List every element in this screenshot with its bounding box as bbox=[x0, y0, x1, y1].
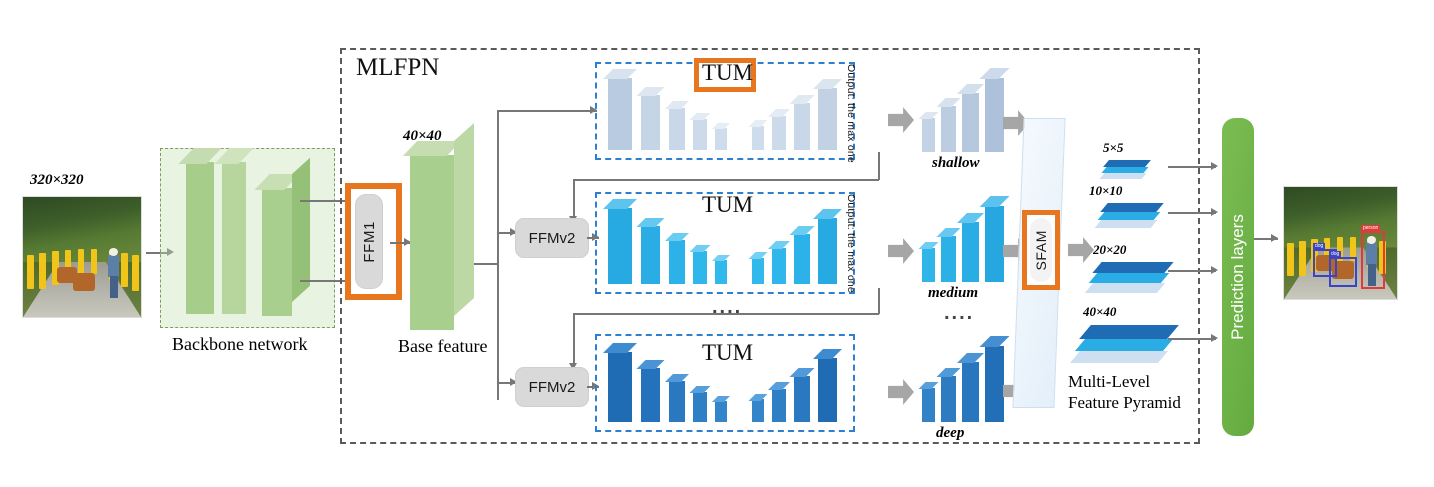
line-tum2-down-to-ffmv2 bbox=[573, 313, 575, 365]
pyr-layer-dark bbox=[1103, 160, 1151, 167]
pyr-layer-light bbox=[1099, 173, 1146, 179]
sfam-label: SFAM bbox=[1033, 230, 1049, 271]
sfam-module[interactable]: SFAM bbox=[1030, 218, 1052, 282]
medium-slab bbox=[962, 222, 979, 282]
shallow-slab bbox=[922, 118, 935, 152]
detection-label-dog: dog bbox=[1313, 243, 1325, 250]
tum-1-slab bbox=[693, 119, 707, 150]
output-photo: person dog dog bbox=[1283, 186, 1398, 300]
tum-2-slab bbox=[669, 240, 685, 284]
deep-slab bbox=[941, 376, 956, 422]
photo-post bbox=[78, 249, 84, 276]
arrowhead bbox=[1211, 162, 1218, 170]
medium-label: medium bbox=[928, 285, 978, 302]
deep-label: deep bbox=[936, 425, 964, 442]
base-feature-block-right bbox=[454, 123, 474, 316]
tum-3-slab bbox=[669, 381, 685, 422]
line-tum1-down-to-ffmv2 bbox=[573, 179, 575, 218]
ffmv2-module-2[interactable]: FFMv2 bbox=[515, 367, 589, 407]
ffmv2-label: FFMv2 bbox=[529, 379, 576, 396]
tum-1-slab bbox=[641, 95, 660, 150]
pyramid-caption-line1: Multi-Level bbox=[1068, 372, 1150, 392]
arrowhead bbox=[1271, 234, 1278, 242]
arrow-pyramid-to-pred-1 bbox=[1168, 166, 1216, 168]
tum-3-slab bbox=[608, 352, 632, 422]
photo-person-head bbox=[109, 248, 118, 256]
shallow-slab bbox=[985, 78, 1004, 152]
arrowhead bbox=[1211, 208, 1218, 216]
backbone-slab-2 bbox=[222, 162, 246, 314]
photo-dog bbox=[73, 273, 95, 291]
detection-label-person: person bbox=[1361, 225, 1380, 232]
tum-label-1: TUM bbox=[702, 60, 753, 86]
line-to-tum1 bbox=[497, 110, 597, 112]
tum-1-slab bbox=[752, 126, 764, 150]
ellipsis-between-tums: .... bbox=[712, 296, 742, 319]
photo-post bbox=[132, 255, 139, 291]
tum-3-slab bbox=[772, 389, 786, 422]
tum-2-slab bbox=[608, 208, 632, 284]
pyr-layer-light bbox=[1070, 351, 1168, 363]
tum-1-slab bbox=[818, 88, 837, 150]
pyramid-caption-line2: Feature Pyramid bbox=[1068, 393, 1181, 413]
tum-2-slab bbox=[641, 226, 660, 284]
tum-3-slab bbox=[641, 368, 660, 422]
prediction-layers-label: Prediction layers bbox=[1228, 214, 1248, 340]
medium-slab bbox=[941, 236, 956, 282]
tum-3-slab bbox=[794, 376, 810, 422]
tum-label-2: TUM bbox=[702, 192, 753, 218]
arrowhead bbox=[1211, 334, 1218, 342]
photo-post bbox=[1299, 241, 1306, 276]
pyr-layer-mid bbox=[1098, 212, 1161, 220]
medium-slab bbox=[922, 248, 935, 282]
ffmv2-label: FFMv2 bbox=[529, 230, 576, 247]
tum-label-3: TUM bbox=[702, 340, 753, 366]
line-base-out bbox=[474, 263, 498, 265]
photo-post bbox=[27, 255, 34, 289]
input-photo bbox=[22, 196, 142, 318]
prediction-layers[interactable]: Prediction layers bbox=[1222, 118, 1254, 436]
pyr-layer-dark bbox=[1079, 325, 1179, 339]
tum-1-output-caption: Output: the max one bbox=[845, 64, 857, 163]
line-tum1-feedback-v bbox=[878, 152, 880, 180]
tum-1-slab bbox=[669, 108, 685, 150]
shallow-slab bbox=[941, 106, 956, 152]
photo-post bbox=[1287, 243, 1294, 276]
tum-3-slab bbox=[752, 399, 764, 422]
deep-slab bbox=[962, 362, 979, 422]
arrow-pyramid-to-pred-3 bbox=[1168, 270, 1216, 272]
ellipsis-levels: .... bbox=[944, 302, 974, 325]
pyr-layer-mid bbox=[1075, 339, 1173, 351]
diagram-canvas: 320×320 Backbone network FFM1 bbox=[0, 0, 1434, 487]
tum-1-slab bbox=[715, 128, 727, 150]
tum-2-slab bbox=[794, 234, 810, 284]
photo-person bbox=[108, 255, 119, 277]
tum-2-slab bbox=[693, 251, 707, 284]
pyr-layer-dark bbox=[1092, 262, 1173, 273]
backbone-label: Backbone network bbox=[172, 334, 307, 355]
line-base-trunk bbox=[497, 110, 499, 400]
tum-2-output-caption: Output: the max one bbox=[845, 194, 857, 293]
pyr-layer-dark bbox=[1100, 203, 1164, 212]
tum-3-slab bbox=[715, 401, 727, 422]
arrow-pyramid-to-pred-4 bbox=[1168, 338, 1216, 340]
line-tum2-feedback-v bbox=[878, 288, 880, 314]
photo-person-legs bbox=[110, 276, 118, 298]
tum-2-slab bbox=[752, 258, 764, 284]
tum-3-slab bbox=[693, 392, 707, 422]
arrow-pyramid-to-pred-2 bbox=[1168, 212, 1216, 214]
pyr-layer-light bbox=[1095, 220, 1158, 228]
line-tum1-feedback-h bbox=[573, 179, 879, 181]
photo-post bbox=[91, 249, 97, 274]
detection-label-dog: dog bbox=[1329, 251, 1341, 258]
backbone-slab-1 bbox=[186, 162, 214, 314]
pyramid-label-5x5: 5×5 bbox=[1103, 140, 1123, 156]
shallow-slab bbox=[962, 93, 979, 152]
pyr-layer-light bbox=[1085, 283, 1165, 293]
detection-box-person bbox=[1361, 231, 1385, 289]
pyramid-label-40x40: 40×40 bbox=[1083, 304, 1116, 320]
tum-1-slab bbox=[608, 78, 632, 150]
shallow-label: shallow bbox=[932, 155, 980, 172]
tum-2-slab bbox=[818, 218, 837, 284]
arrowhead bbox=[1211, 266, 1218, 274]
backbone-slab-3 bbox=[262, 188, 292, 316]
deep-slab bbox=[985, 346, 1004, 422]
deep-slab bbox=[922, 388, 935, 422]
medium-slab bbox=[985, 206, 1004, 282]
pyr-layer-mid bbox=[1089, 273, 1169, 283]
ffmv2-module-1[interactable]: FFMv2 bbox=[515, 218, 589, 258]
tum-1-slab bbox=[772, 116, 786, 150]
detection-box-dog bbox=[1329, 257, 1357, 287]
photo-post bbox=[39, 253, 46, 289]
input-size-label: 320×320 bbox=[30, 172, 84, 189]
tum-1-slab bbox=[794, 103, 810, 150]
tum-3-slab bbox=[818, 358, 837, 422]
base-feature-block bbox=[410, 155, 454, 330]
tum-2-slab bbox=[772, 248, 786, 284]
mlfpn-title: MLFPN bbox=[356, 54, 439, 82]
pyramid-label-20x20: 20×20 bbox=[1093, 242, 1126, 258]
pyramid-label-10x10: 10×10 bbox=[1089, 183, 1122, 199]
photo-post bbox=[121, 253, 128, 287]
base-feature-label: Base feature bbox=[398, 336, 487, 357]
tum-2-slab bbox=[715, 260, 727, 284]
